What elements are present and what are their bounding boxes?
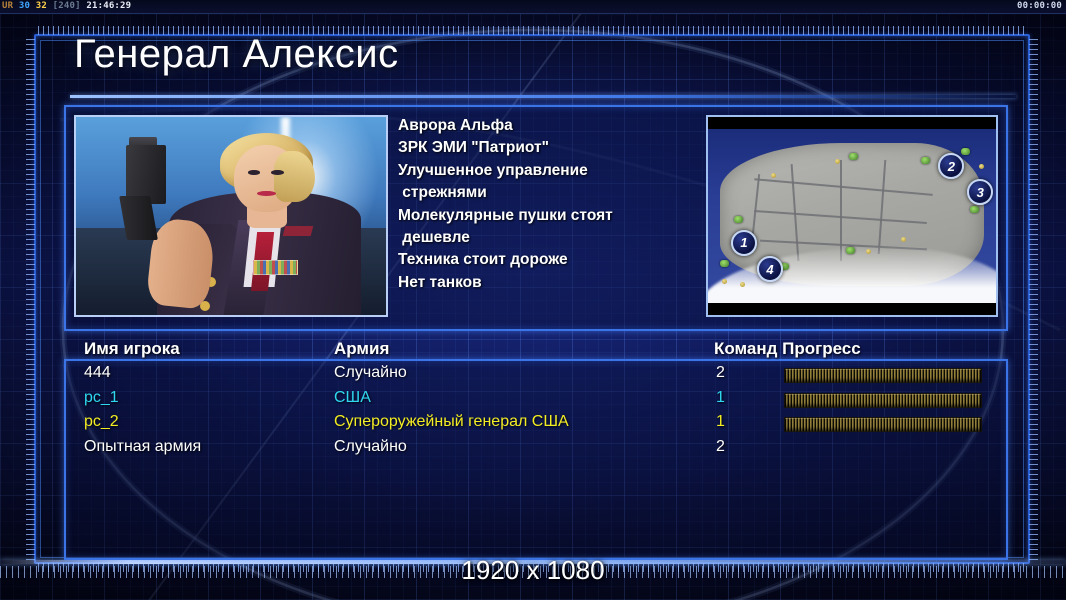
portrait-medals bbox=[253, 260, 298, 276]
frame-ticks-right bbox=[1029, 38, 1038, 560]
map-supply-icon bbox=[720, 260, 729, 267]
map-oil-icon bbox=[771, 173, 776, 178]
description-line: стрежнями bbox=[398, 182, 698, 204]
player-army-cell: Случайно bbox=[334, 438, 407, 456]
debug-value-2: 32 bbox=[36, 1, 47, 11]
map-terrain: 1 2 3 4 bbox=[708, 129, 996, 303]
player-name-cell: 444 bbox=[84, 364, 111, 382]
column-header-name: Имя игрока bbox=[84, 339, 180, 359]
map-supply-icon bbox=[970, 206, 979, 213]
player-name-cell: Опытная армия bbox=[84, 438, 201, 456]
description-line: ЗРК ЭМИ "Патриот" bbox=[398, 137, 698, 159]
table-row[interactable]: Опытная армияСлучайно2 bbox=[84, 437, 984, 462]
general-description: Аврора Альфа ЗРК ЭМИ "Патриот" Улучшенно… bbox=[398, 115, 698, 294]
resolution-label: 1920 x 1080 bbox=[0, 555, 1066, 586]
player-table-panel: 444Случайно2pc_1США1pc_2Супероружейный г… bbox=[64, 359, 1008, 560]
map-road bbox=[840, 160, 842, 261]
general-info-panel: Аврора Альфа ЗРК ЭМИ "Патриот" Улучшенно… bbox=[64, 105, 1008, 331]
player-army-cell: Супероружейный генерал США bbox=[334, 413, 569, 431]
top-status-bar: UR 30 32 [240] 21:46:29 00:00:00 bbox=[0, 0, 1066, 14]
debug-value-1: 30 bbox=[19, 1, 30, 11]
player-progress-bar bbox=[784, 393, 982, 408]
map-preview[interactable]: 1 2 3 4 bbox=[706, 115, 998, 317]
map-oil-icon bbox=[835, 159, 840, 164]
debug-clock: 21:46:29 bbox=[86, 1, 131, 11]
player-team-cell: 2 bbox=[716, 364, 725, 382]
player-table-header: Имя игрока Армия Команд Прогресс bbox=[84, 339, 984, 361]
map-supply-icon bbox=[961, 148, 970, 155]
debug-bracket: [240] bbox=[53, 1, 81, 11]
title-band: Генерал Алексис bbox=[48, 36, 1016, 92]
description-line: Молекулярные пушки стоят bbox=[398, 205, 698, 227]
map-start-position-4[interactable]: 4 bbox=[757, 256, 783, 282]
player-progress-bar bbox=[784, 417, 982, 432]
player-team-cell: 1 bbox=[716, 413, 725, 431]
description-line: Нет танков bbox=[398, 272, 698, 294]
map-supply-icon bbox=[849, 153, 858, 160]
map-oil-icon bbox=[979, 164, 984, 169]
column-header-army: Армия bbox=[334, 339, 389, 359]
player-team-cell: 2 bbox=[716, 438, 725, 456]
player-rows: 444Случайно2pc_1США1pc_2Супероружейный г… bbox=[84, 363, 984, 461]
map-supply-icon bbox=[734, 216, 743, 223]
description-line: Аврора Альфа bbox=[398, 115, 698, 137]
description-line: Улучшенное управление bbox=[398, 160, 698, 182]
map-oil-icon bbox=[740, 282, 745, 287]
map-oil-icon bbox=[901, 237, 906, 242]
portrait-collar-tab bbox=[282, 226, 312, 236]
map-supply-icon bbox=[846, 247, 855, 254]
general-portrait bbox=[74, 115, 388, 317]
title-underline bbox=[70, 95, 1016, 98]
description-line: Техника стоит дороже bbox=[398, 249, 698, 271]
table-row[interactable]: pc_2Супероружейный генерал США1 bbox=[84, 412, 984, 437]
player-team-cell: 1 bbox=[716, 389, 725, 407]
description-line: дешевле bbox=[398, 227, 698, 249]
player-name-cell: pc_1 bbox=[84, 389, 119, 407]
game-lobby-screen: UR 30 32 [240] 21:46:29 00:00:00 Генерал… bbox=[0, 0, 1066, 600]
debug-readout: UR 30 32 [240] 21:46:29 bbox=[2, 0, 131, 13]
portrait-hair-side bbox=[274, 151, 314, 202]
page-title: Генерал Алексис bbox=[74, 32, 399, 77]
player-army-cell: Случайно bbox=[334, 364, 407, 382]
map-supply-icon bbox=[921, 157, 930, 164]
map-start-position-1[interactable]: 1 bbox=[731, 230, 757, 256]
debug-prefix: UR bbox=[2, 1, 13, 11]
table-row[interactable]: 444Случайно2 bbox=[84, 363, 984, 388]
player-name-cell: pc_2 bbox=[84, 413, 119, 431]
player-progress-bar bbox=[784, 368, 982, 383]
table-row[interactable]: pc_1США1 bbox=[84, 388, 984, 413]
column-header-team: Команд Прогресс bbox=[714, 339, 861, 359]
player-army-cell: США bbox=[334, 389, 371, 407]
game-timer: 00:00:00 bbox=[1017, 0, 1062, 13]
map-start-position-3[interactable]: 3 bbox=[967, 179, 993, 205]
